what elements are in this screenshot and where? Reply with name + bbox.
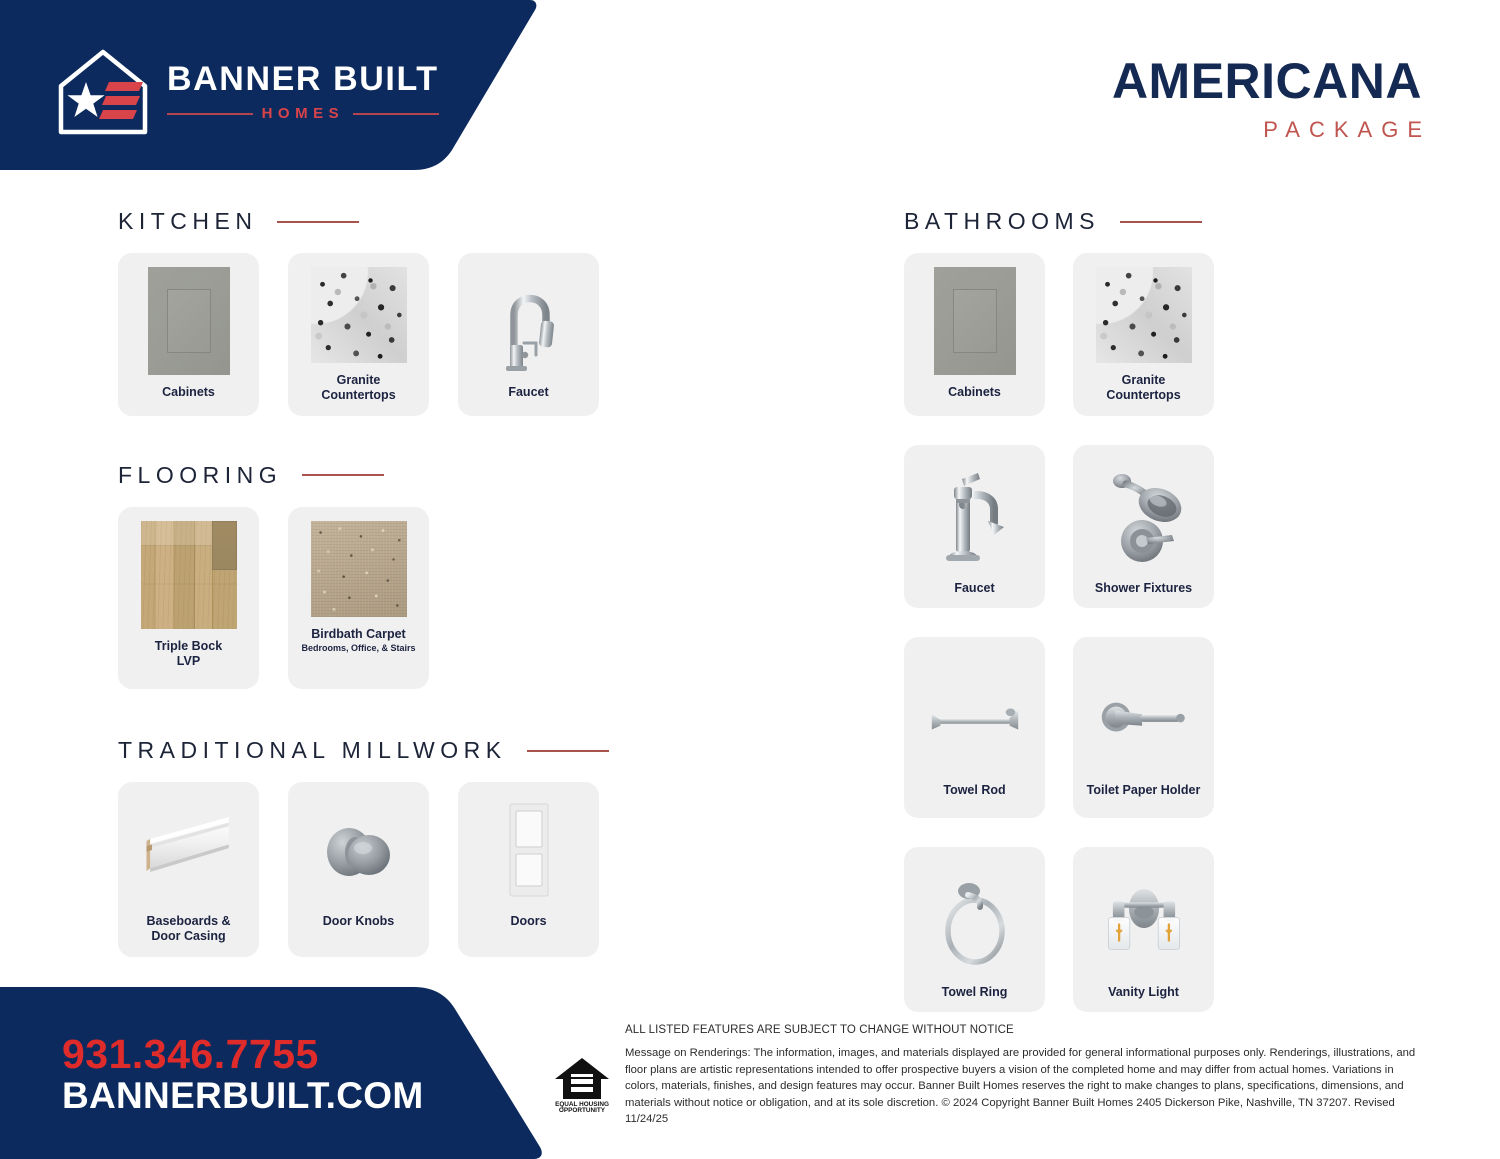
card-label: Towel Rod: [943, 783, 1005, 798]
card-grid-flooring: Triple Bock LVP Birdbath Carpet Bedrooms…: [118, 507, 638, 690]
bath-faucet-icon: [927, 463, 1023, 571]
card-bath-faucet[interactable]: Faucet: [904, 445, 1045, 608]
disclaimer-block: ALL LISTED FEATURES ARE SUBJECT TO CHANG…: [625, 1024, 1425, 1128]
cabinet-swatch-icon: [141, 267, 237, 375]
card-towel-ring[interactable]: Towel Ring: [904, 847, 1045, 1012]
towel-rod-icon: [927, 665, 1023, 773]
card-label: Towel Ring: [942, 985, 1008, 1000]
website-url[interactable]: BANNERBUILT.COM: [62, 1076, 423, 1117]
section-title-kitchen: KITCHEN: [118, 208, 257, 235]
section-traditional-millwork: TRADITIONAL MILLWORK: [118, 737, 638, 957]
card-label: Toilet Paper Holder: [1087, 783, 1201, 798]
card-label-line2: Countertops: [321, 388, 395, 402]
card-flooring-carpet[interactable]: Birdbath Carpet Bedrooms, Office, & Stai…: [288, 507, 429, 690]
cabinet-swatch-icon: [927, 267, 1023, 375]
card-flooring-lvp[interactable]: Triple Bock LVP: [118, 507, 259, 690]
kitchen-faucet-icon: [481, 267, 577, 375]
section-rule: [1120, 221, 1202, 223]
section-bathrooms: BATHROOMS Cabinets Granite Countertops: [904, 208, 1264, 1012]
section-title-flooring: FLOORING: [118, 462, 282, 489]
card-label: Doors: [510, 914, 546, 929]
towel-ring-icon: [927, 867, 1023, 975]
card-label: Faucet: [954, 581, 994, 596]
card-toilet-paper-holder[interactable]: Toilet Paper Holder: [1073, 637, 1214, 818]
left-column: KITCHEN Cabinets Granite Countertops: [118, 208, 638, 957]
logo-title: BANNER BUILT: [167, 62, 439, 96]
baseboard-molding-icon: [141, 796, 237, 904]
card-shower-fixtures[interactable]: Shower Fixtures: [1073, 445, 1214, 608]
card-label: Baseboards & Door Casing: [146, 914, 230, 945]
card-label-line1: Triple Bock: [155, 639, 222, 653]
card-label: Shower Fixtures: [1095, 581, 1192, 596]
card-label: Vanity Light: [1108, 985, 1179, 1000]
section-header-bathrooms: BATHROOMS: [904, 208, 1264, 235]
card-label-line2: Door Casing: [151, 929, 225, 943]
phone-number[interactable]: 931.346.7755: [62, 1032, 423, 1076]
card-label-line2: Countertops: [1106, 388, 1180, 402]
disclaimer-heading: ALL LISTED FEATURES ARE SUBJECT TO CHANG…: [625, 1024, 1425, 1036]
card-baseboards-door-casing[interactable]: Baseboards & Door Casing: [118, 782, 259, 957]
card-grid-bathrooms: Cabinets Granite Countertops: [904, 253, 1264, 1012]
section-header-kitchen: KITCHEN: [118, 208, 638, 235]
section-flooring: FLOORING Triple Bock LVP Birdbath Carpet…: [118, 462, 638, 690]
card-label-line1: Granite: [337, 373, 381, 387]
section-rule: [302, 474, 384, 476]
card-door-knobs[interactable]: Door Knobs: [288, 782, 429, 957]
section-header-millwork: TRADITIONAL MILLWORK: [118, 737, 638, 764]
brochure-page: BANNER BUILT HOMES AMERICANA PACKAGE KIT…: [0, 0, 1500, 1159]
card-bath-cabinets[interactable]: Cabinets: [904, 253, 1045, 416]
svg-text:OPPORTUNITY: OPPORTUNITY: [559, 1107, 606, 1114]
card-towel-rod[interactable]: Towel Rod: [904, 637, 1045, 818]
card-vanity-light[interactable]: Vanity Light: [1073, 847, 1214, 1012]
vanity-light-icon: [1096, 867, 1192, 975]
logo-rule-right: [353, 113, 439, 115]
card-label: Birdbath Carpet: [311, 627, 405, 642]
card-label-line1: Baseboards &: [146, 914, 230, 928]
logo-subtitle: HOMES: [262, 105, 345, 122]
card-grid-millwork: Baseboards & Door Casing: [118, 782, 638, 957]
granite-swatch-icon: [311, 267, 407, 363]
section-header-flooring: FLOORING: [118, 462, 638, 489]
package-title-block: AMERICANA PACKAGE: [1112, 56, 1422, 143]
panel-door-icon: [481, 796, 577, 904]
card-sublabel: Bedrooms, Office, & Stairs: [301, 643, 415, 654]
card-label: Door Knobs: [323, 914, 395, 929]
carpet-swatch-icon: [311, 521, 407, 617]
card-doors[interactable]: Doors: [458, 782, 599, 957]
card-label: Cabinets: [948, 385, 1001, 400]
section-rule: [277, 221, 359, 223]
card-label: Triple Bock LVP: [155, 639, 222, 670]
section-kitchen: KITCHEN Cabinets Granite Countertops: [118, 208, 638, 416]
section-rule: [527, 750, 609, 752]
toilet-paper-holder-icon: [1096, 665, 1192, 773]
banner-built-logo: BANNER BUILT HOMES: [55, 46, 439, 138]
card-bath-granite[interactable]: Granite Countertops: [1073, 253, 1214, 416]
section-title-bathrooms: BATHROOMS: [904, 208, 1100, 235]
lvp-swatch-icon: [141, 521, 237, 629]
logo-rule-left: [167, 113, 253, 115]
disclaimer-body: Message on Renderings: The information, …: [625, 1045, 1425, 1128]
granite-swatch-icon: [1096, 267, 1192, 363]
card-label: Granite Countertops: [321, 373, 395, 404]
shower-fixture-icon: [1096, 463, 1192, 571]
package-title: AMERICANA: [1112, 56, 1422, 106]
card-label-line2: LVP: [177, 654, 200, 668]
card-label: Granite Countertops: [1106, 373, 1180, 404]
house-flag-logo-icon: [55, 46, 151, 138]
card-label-line1: Granite: [1122, 373, 1166, 387]
card-grid-kitchen: Cabinets Granite Countertops: [118, 253, 638, 416]
card-kitchen-cabinets[interactable]: Cabinets: [118, 253, 259, 416]
card-kitchen-granite[interactable]: Granite Countertops: [288, 253, 429, 416]
footer-contact: 931.346.7755 BANNERBUILT.COM: [62, 1032, 423, 1117]
logo-subtitle-row: HOMES: [167, 105, 439, 122]
card-kitchen-faucet[interactable]: Faucet: [458, 253, 599, 416]
equal-housing-opportunity-icon: EQUAL HOUSING OPPORTUNITY: [553, 1053, 611, 1115]
section-title-millwork: TRADITIONAL MILLWORK: [118, 737, 507, 764]
door-knob-icon: [311, 796, 407, 904]
card-label: Faucet: [508, 385, 548, 400]
package-subtitle: PACKAGE: [1112, 117, 1431, 143]
card-label: Cabinets: [162, 385, 215, 400]
right-column: BATHROOMS Cabinets Granite Countertops: [904, 208, 1264, 1012]
